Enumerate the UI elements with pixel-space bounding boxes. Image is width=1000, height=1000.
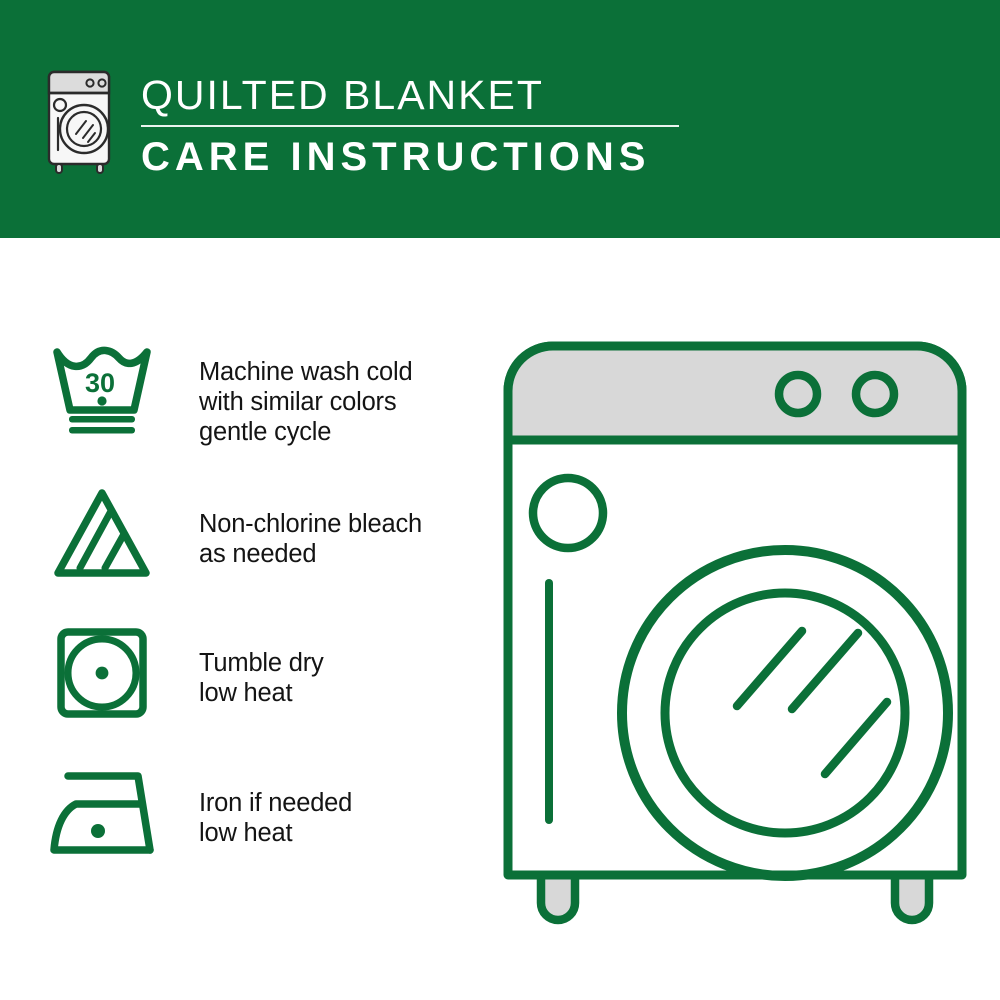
page-title-primary: QUILTED BLANKET	[141, 72, 761, 118]
care-symbol-slot	[50, 480, 162, 584]
dry-heat-dot-icon	[96, 667, 109, 680]
iron-low-heat-icon	[50, 764, 162, 860]
page-title-secondary: CARE INSTRUCTIONS	[141, 133, 761, 181]
wash-temperature-label: 30	[85, 368, 115, 398]
care-symbol-slot	[50, 760, 162, 864]
care-label-machine-wash: Machine wash cold with similar colors ge…	[162, 340, 412, 447]
wash-dot-icon	[97, 396, 106, 405]
header-title-block: QUILTED BLANKET CARE INSTRUCTIONS	[141, 72, 761, 181]
wash-tub-30-gentle-icon: 30	[50, 344, 154, 440]
care-instruction-list: 30 Machine wash cold with similar colors…	[50, 340, 480, 900]
tumble-dry-low-heat-icon	[50, 624, 154, 720]
care-row-machine-wash: 30 Machine wash cold with similar colors…	[50, 340, 480, 480]
front-load-washing-machine-illustration	[495, 333, 975, 933]
care-symbol-slot	[50, 620, 162, 724]
care-row-iron: Iron if needed low heat	[50, 760, 480, 900]
title-divider	[141, 125, 679, 127]
machine-leg-left	[541, 875, 575, 920]
care-row-tumble-dry: Tumble dry low heat	[50, 620, 480, 760]
iron-heat-dot-icon	[91, 824, 105, 838]
care-label-tumble-dry: Tumble dry low heat	[162, 620, 324, 708]
care-symbol-slot: 30	[50, 340, 162, 444]
care-label-iron: Iron if needed low heat	[162, 760, 352, 848]
machine-leg-right	[895, 875, 929, 920]
care-label-bleach: Non-chlorine bleach as needed	[162, 480, 422, 569]
header-banner: QUILTED BLANKET CARE INSTRUCTIONS	[0, 0, 1000, 238]
care-row-bleach: Non-chlorine bleach as needed	[50, 480, 480, 620]
non-chlorine-bleach-triangle-icon	[50, 484, 154, 580]
care-instructions-page: QUILTED BLANKET CARE INSTRUCTIONS 30	[0, 0, 1000, 1000]
washing-machine-logo-icon	[44, 68, 118, 176]
